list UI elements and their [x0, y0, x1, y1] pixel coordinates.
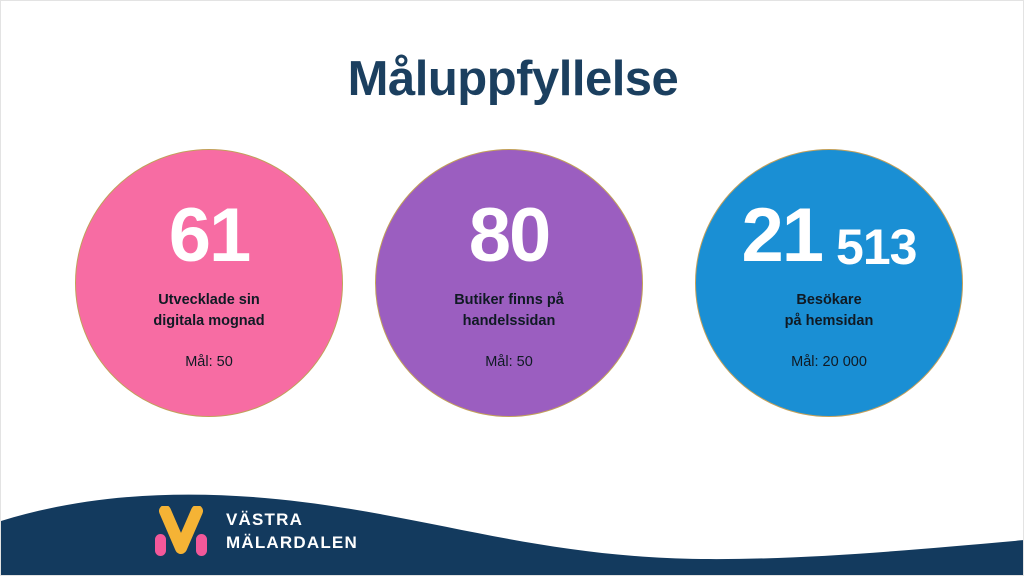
brand-logo-line2: MÄLARDALEN [226, 532, 358, 555]
page-title: Måluppfyllelse [1, 53, 1024, 107]
kpi-circle-besokare-hemsidan[interactable]: 21 513 Besökare på hemsidan Mål: 20 000 [695, 149, 963, 417]
kpi-value-secondary: 513 [836, 222, 916, 274]
kpi-value: 61 [169, 202, 250, 274]
kpi-circle-group: 61 Utvecklade sin digitala mognad Mål: 5… [1, 149, 1024, 421]
kpi-circle-utvecklade-digitala-mognad[interactable]: 61 Utvecklade sin digitala mognad Mål: 5… [75, 149, 343, 417]
brand-logo-line1: VÄSTRA [226, 510, 303, 529]
kpi-value: 21 513 [742, 202, 917, 274]
kpi-label: Utvecklade sin digitala mognad [153, 290, 264, 332]
kpi-value: 80 [469, 202, 550, 274]
slide-canvas: Måluppfyllelse 61 Utvecklade sin digital… [0, 0, 1024, 576]
brand-logo[interactable]: VÄSTRA MÄLARDALEN [153, 506, 358, 558]
kpi-goal: Mål: 50 [485, 354, 533, 370]
brand-logo-text: VÄSTRA MÄLARDALEN [226, 509, 358, 555]
kpi-goal: Mål: 20 000 [791, 354, 867, 370]
kpi-label: Besökare på hemsidan [785, 290, 874, 332]
kpi-circle-butiker-handelssidan[interactable]: 80 Butiker finns på handelssidan Mål: 50 [375, 149, 643, 417]
kpi-value-primary: 61 [169, 198, 250, 274]
vastra-malardalen-m-logo-icon [153, 506, 209, 558]
kpi-value-primary: 80 [469, 198, 550, 274]
kpi-label: Butiker finns på handelssidan [454, 290, 564, 332]
kpi-goal: Mål: 50 [185, 354, 233, 370]
kpi-value-primary: 21 [742, 198, 823, 274]
